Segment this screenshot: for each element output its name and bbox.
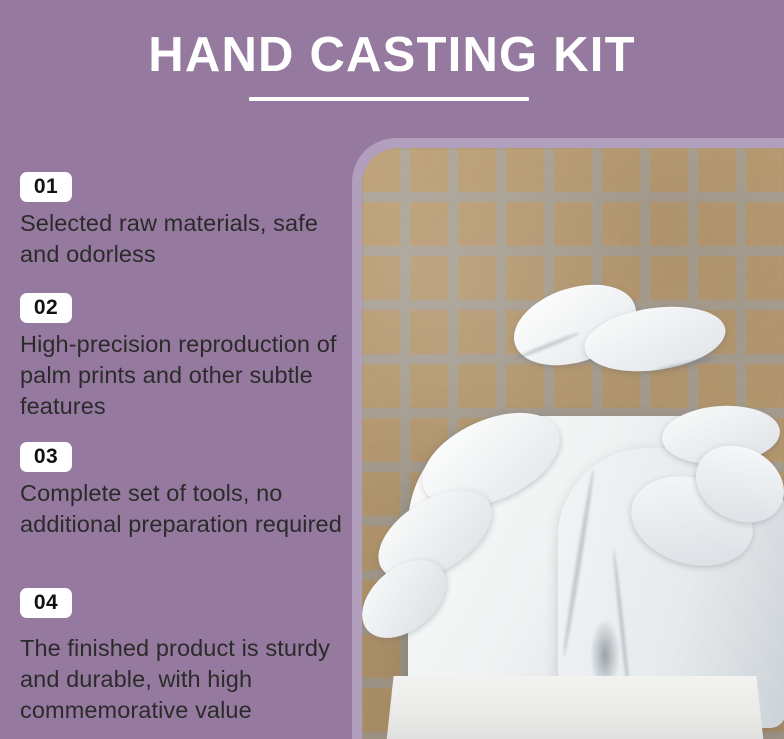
list-item: 03 Complete set of tools, no additional … [20, 442, 342, 540]
product-photo [362, 148, 784, 739]
title-divider [249, 97, 529, 101]
feature-description: The finished product is sturdy and durab… [20, 633, 342, 726]
feature-description: High-precision reproduction of palm prin… [20, 329, 342, 422]
feature-number-badge: 04 [20, 588, 72, 618]
feature-list: 01 Selected raw materials, safe and odor… [0, 136, 352, 739]
list-item: 01 Selected raw materials, safe and odor… [20, 172, 342, 270]
hand-casting-kit-poster: HAND CASTING KIT 01 Selected raw materia… [0, 0, 784, 739]
feature-number-badge: 01 [20, 172, 72, 202]
list-item: 04 The finished product is sturdy and du… [20, 588, 342, 726]
sculpture-pedestal [386, 676, 764, 739]
page-title: HAND CASTING KIT [0, 26, 784, 84]
list-item: 02 High-precision reproduction of palm p… [20, 293, 342, 422]
photo-frame [352, 138, 784, 739]
feature-description: Selected raw materials, safe and odorles… [20, 208, 342, 270]
feature-number-badge: 03 [20, 442, 72, 472]
feature-description: Complete set of tools, no additional pre… [20, 478, 342, 540]
hand-cast-sculpture [362, 148, 784, 739]
poster-header: HAND CASTING KIT [0, 0, 784, 136]
feature-number-badge: 02 [20, 293, 72, 323]
